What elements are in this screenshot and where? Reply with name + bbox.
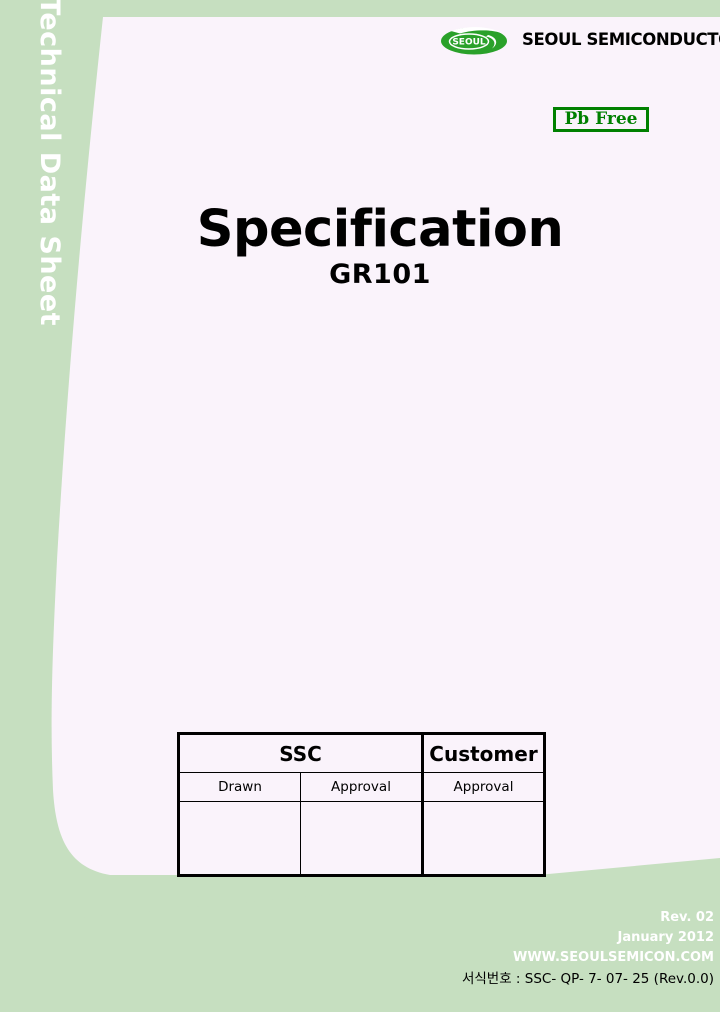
table-row-signatures [179, 802, 545, 876]
table-subheader-ssc-approval: Approval [301, 773, 423, 802]
pb-free-badge: Pb Free [553, 107, 649, 132]
signature-cell-customer-approval[interactable] [423, 802, 545, 876]
seoul-oval-logo-icon: SEOUL [440, 22, 508, 56]
side-tab-label: Technical Data Sheet [29, 0, 69, 287]
page-footer: Rev. 02 January 2012 WWW.SEOULSEMICON.CO… [194, 908, 714, 990]
table-subheader-customer-approval: Approval [423, 773, 545, 802]
title-block: Specification GR101 [100, 203, 660, 290]
table-row-headers: SSC Customer [179, 734, 545, 773]
logo-wordmark: SEOUL [452, 38, 486, 48]
page-subtitle: GR101 [100, 260, 660, 290]
document-page: Technical Data Sheet SEOUL SEOUL SEMICON… [0, 0, 720, 1012]
footer-date: January 2012 [194, 928, 714, 948]
table-header-customer: Customer [423, 734, 545, 773]
footer-form-number: 서식번호 : SSC- QP- 7- 07- 25 (Rev.0.0) [194, 968, 714, 990]
signature-cell-drawn[interactable] [179, 802, 301, 876]
brand-header: SEOUL SEOUL SEMICONDUCTOR [440, 22, 720, 56]
signature-cell-ssc-approval[interactable] [301, 802, 423, 876]
table-row-subheaders: Drawn Approval Approval [179, 773, 545, 802]
footer-revision: Rev. 02 [194, 908, 714, 928]
signature-table: SSC Customer Drawn Approval Approval [177, 732, 546, 877]
table-header-ssc: SSC [179, 734, 423, 773]
page-title: Specification [100, 203, 660, 257]
brand-name: SEOUL SEMICONDUCTOR [522, 30, 720, 49]
table-subheader-drawn: Drawn [179, 773, 301, 802]
footer-website[interactable]: WWW.SEOULSEMICON.COM [194, 948, 714, 968]
